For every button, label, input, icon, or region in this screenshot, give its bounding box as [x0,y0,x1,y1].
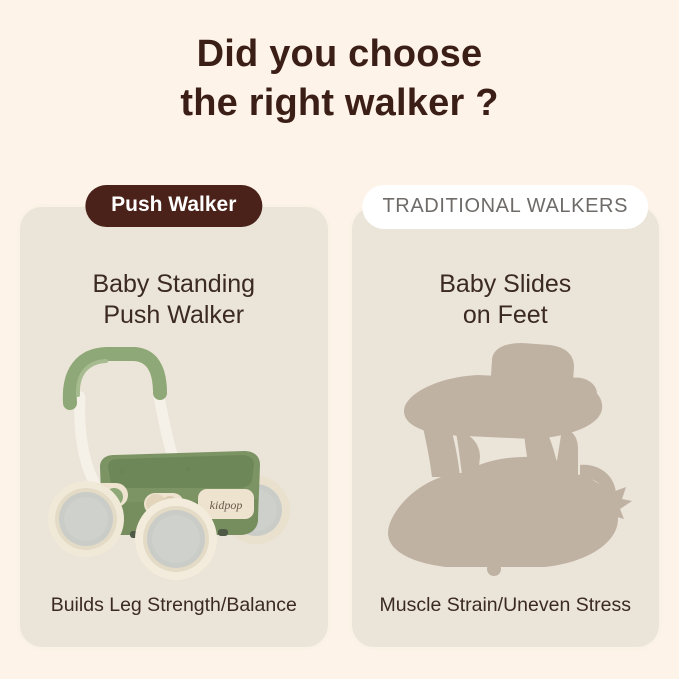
card-caption-traditional-walkers: Muscle Strain/Uneven Stress [380,593,631,617]
card-heading-traditional-walkers: Baby Slides on Feet [439,269,571,331]
traditional-walker-silhouette-illustration [374,337,636,587]
illustration-stage-push-walker: kidpop [20,331,328,593]
page-title: Did you choose the right walker ? [0,30,679,128]
badge-traditional-walkers: TRADITIONAL WALKERS [362,185,648,229]
wheel-front-left-icon [48,481,124,557]
wheel-front-right-icon [135,498,217,580]
brand-plate-label: kidpop [209,498,242,512]
card-traditional-walkers: TRADITIONAL WALKERS Baby Slides on Feet [352,207,660,647]
card-push-walker: Push Walker Baby Standing Push Walker [20,207,328,647]
badge-push-walker: Push Walker [85,185,262,227]
page-title-line-2: the right walker ? [0,79,679,128]
card-heading-push-walker: Baby Standing Push Walker [92,269,255,331]
comparison-cards: Push Walker Baby Standing Push Walker [20,207,659,647]
green-push-walker-illustration: kidpop [48,343,300,587]
card-caption-push-walker: Builds Leg Strength/Balance [51,593,297,617]
illustration-stage-traditional-walkers [352,331,660,593]
page-title-line-1: Did you choose [0,30,679,79]
